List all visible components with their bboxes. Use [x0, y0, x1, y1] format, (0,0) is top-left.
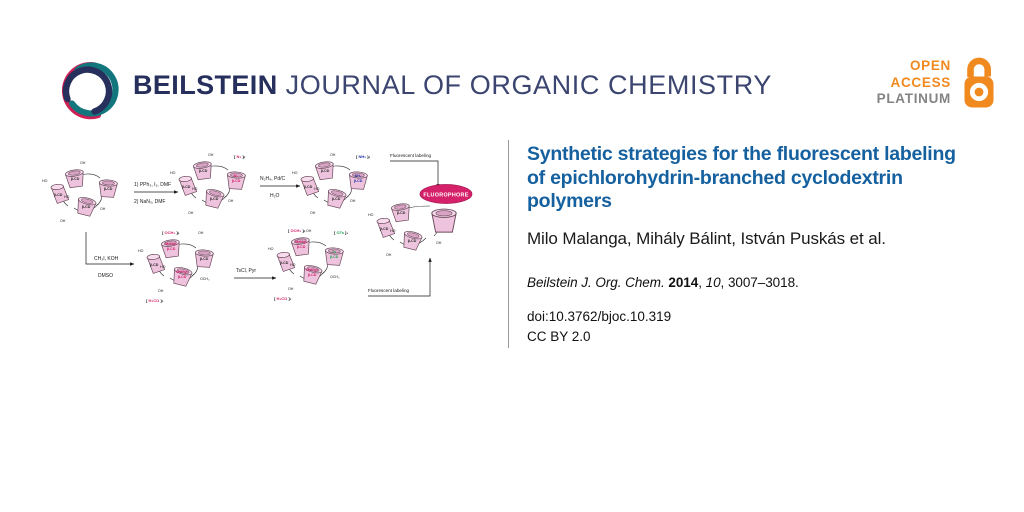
structure-cd-polymer-azide: β-CD β-CD β-CD β-CD N₃ OH HO HO OH OH [ … — [170, 153, 246, 215]
svg-text:Ts: Ts — [332, 250, 336, 254]
labeling-arrow-bottom: Fluorescent labeling — [368, 258, 430, 296]
svg-text:β-CD: β-CD — [308, 273, 317, 277]
wordmark-subtitle: JOURNAL OF ORGANIC CHEMISTRY — [286, 70, 772, 100]
reagent-step-3b: DMSO — [98, 273, 113, 279]
svg-text:HO: HO — [390, 229, 396, 233]
citation-pages: 3007–3018. — [728, 275, 799, 290]
svg-text:HO: HO — [292, 171, 298, 175]
svg-text:Methyl: Methyl — [165, 242, 176, 246]
svg-text:β-CD: β-CD — [321, 169, 330, 173]
svg-text:OH: OH — [60, 219, 66, 223]
reagent-arrow-step-2: N₂H₄, Pd/C H₂O — [260, 176, 300, 199]
labeling-arrow-bottom-text: Fluorescent labeling — [368, 288, 410, 293]
reagent-step-1b: 2) NaN₃, DMF — [134, 199, 165, 205]
svg-text:OH: OH — [288, 287, 294, 291]
svg-text:β-CD: β-CD — [332, 197, 341, 201]
fluorophore-tag: FLUOROPHORE — [420, 185, 472, 204]
svg-text:β-CD: β-CD — [297, 245, 306, 249]
svg-text:β-CD: β-CD — [199, 169, 208, 173]
svg-text:HO: HO — [138, 249, 144, 253]
citation-journal: Beilstein J. Org. Chem. — [527, 275, 665, 290]
svg-text:OH: OH — [228, 199, 234, 203]
reaction-scheme-figure: β-CD β-CD β-CD β-CD OH HO HO OH OH 1) PP… — [38, 136, 493, 326]
svg-text:Methyl: Methyl — [306, 268, 317, 272]
svg-text:β-CD: β-CD — [178, 275, 187, 279]
svg-text:FLUOROPHORE: FLUOROPHORE — [423, 193, 468, 199]
oa-line-access: ACCESS — [877, 75, 951, 91]
svg-text:β-CD: β-CD — [397, 211, 406, 215]
reagent-arrow-step-4: TsCl, Pyr — [234, 268, 276, 278]
reagent-step-3a: CH₃I, KOH — [94, 256, 119, 262]
labeling-arrow-top: Fluorescent labeling — [390, 153, 438, 188]
article-title: Synthetic strategies for the fluorescent… — [527, 143, 967, 214]
svg-text:Methyl: Methyl — [295, 240, 306, 244]
svg-text:β-CD: β-CD — [408, 239, 417, 243]
svg-text:β-CD: β-CD — [54, 193, 63, 197]
journal-wordmark: BEILSTEINJOURNAL OF ORGANIC CHEMISTRY — [133, 70, 772, 101]
methoxy-rev-bracket-label: [ H₃CO ]₂ — [146, 298, 164, 303]
svg-text:OH: OH — [306, 229, 312, 233]
svg-text:OCH₃: OCH₃ — [330, 275, 340, 279]
svg-text:HO: HO — [160, 265, 166, 269]
article-citation: Beilstein J. Org. Chem. 2014, 10, 3007–3… — [527, 275, 967, 290]
methoxy-bracket-label: [ OCH₃ ]ₙ — [162, 230, 180, 235]
open-access-badge: OPEN ACCESS PLATINUM — [877, 56, 1000, 110]
svg-text:β-CD: β-CD — [330, 255, 339, 259]
structure-cd-polymer-tosyl: β-CD Methyl β-CD β-CD Methyl β-CD Ts OH … — [268, 228, 348, 301]
svg-text:HO: HO — [314, 187, 320, 191]
azide-bracket-label: [ N₃ ]ₙ — [234, 154, 246, 159]
structure-cd-polymer-labeled: β-CD β-CD β-CD HO HO OH OH FLUOROPHORE — [368, 185, 472, 258]
svg-text:β-CD: β-CD — [104, 187, 113, 191]
svg-text:β-CD: β-CD — [280, 261, 289, 265]
svg-text:β-CD: β-CD — [150, 263, 159, 267]
structure-cd-polymer-amine: β-CD β-CD β-CD β-CD NH₂ OH HO HO OH OH [… — [292, 153, 370, 215]
svg-text:OH: OH — [80, 161, 86, 165]
open-access-text: OPEN ACCESS PLATINUM — [877, 58, 951, 107]
citation-volume: 10 — [706, 275, 721, 290]
article-authors: Milo Malanga, Mihály Bálint, István Pusk… — [527, 228, 967, 249]
svg-text:OH: OH — [188, 211, 194, 215]
citation-year: 2014 — [668, 275, 698, 290]
svg-text:HO: HO — [42, 179, 48, 183]
svg-text:OH: OH — [386, 253, 392, 257]
svg-text:β-CD: β-CD — [380, 227, 389, 231]
reagent-arrow-step-3: CH₃I, KOH DMSO — [86, 232, 134, 279]
reagent-step-2b: H₂O — [270, 193, 280, 199]
svg-text:OH: OH — [436, 241, 442, 245]
open-padlock-icon — [958, 56, 1000, 110]
beilstein-ring-logo-icon — [55, 58, 121, 124]
oa-line-open: OPEN — [877, 58, 951, 74]
svg-text:NH₂: NH₂ — [355, 174, 362, 178]
amine-bracket-label: [ NH₂ ]ₙ — [356, 154, 370, 159]
reagent-arrow-step-1: 1) PPh₃, I₂, DMF 2) NaN₃, DMF — [134, 182, 178, 205]
svg-text:HO: HO — [268, 247, 274, 251]
svg-text:HO: HO — [192, 187, 198, 191]
svg-text:OH: OH — [198, 231, 204, 235]
svg-text:β-CD: β-CD — [232, 179, 241, 183]
svg-text:OH: OH — [310, 211, 316, 215]
article-doi[interactable]: doi:10.3762/bjoc.10.319 — [527, 307, 967, 327]
svg-text:OH: OH — [350, 199, 356, 203]
tosyl-bracket-label: [ OTs ]₁ — [334, 230, 348, 235]
svg-text:β-CD: β-CD — [304, 185, 313, 189]
wordmark-beilstein: BEILSTEIN — [133, 70, 278, 100]
journal-masthead: BEILSTEINJOURNAL OF ORGANIC CHEMISTRY OP… — [0, 0, 1024, 140]
svg-text:Methyl: Methyl — [176, 270, 187, 274]
svg-text:β-CD: β-CD — [354, 179, 363, 183]
svg-text:β-CD: β-CD — [210, 197, 219, 201]
column-divider — [508, 140, 509, 348]
svg-text:β-CD: β-CD — [71, 177, 80, 181]
svg-text:OH: OH — [100, 207, 106, 211]
svg-text:β-CD: β-CD — [82, 205, 91, 209]
svg-text:β-CD: β-CD — [167, 247, 176, 251]
reagent-step-2a: N₂H₄, Pd/C — [260, 176, 285, 182]
svg-text:OH: OH — [330, 153, 336, 157]
svg-text:[ H₃CO ]₂: [ H₃CO ]₂ — [274, 296, 292, 301]
reagent-step-1a: 1) PPh₃, I₂, DMF — [134, 182, 171, 188]
svg-text:HO: HO — [290, 263, 296, 267]
structure-cd-polymer-start: β-CD β-CD β-CD β-CD OH HO HO OH OH — [42, 161, 118, 223]
svg-text:OH: OH — [158, 289, 164, 293]
svg-text:OH: OH — [208, 153, 214, 157]
svg-text:HO: HO — [170, 171, 176, 175]
svg-text:OCH₃: OCH₃ — [200, 277, 210, 281]
svg-text:HO: HO — [368, 213, 374, 217]
structure-cd-polymer-methyl: β-CD Methyl β-CD β-CD Methyl β-CD OH HO … — [138, 230, 214, 303]
svg-text:[ OCH₃ ]ₙ: [ OCH₃ ]ₙ — [288, 228, 306, 233]
article-license: CC BY 2.0 — [527, 327, 967, 347]
reagent-step-4a: TsCl, Pyr — [236, 268, 256, 274]
svg-text:N₃: N₃ — [234, 174, 239, 178]
svg-text:β-CD: β-CD — [182, 185, 191, 189]
svg-text:HO: HO — [64, 195, 70, 199]
oa-line-platinum: PLATINUM — [877, 91, 951, 107]
labeling-arrow-top-text: Fluorescent labeling — [390, 153, 432, 158]
svg-text:β-CD: β-CD — [200, 257, 209, 261]
article-metadata: Synthetic strategies for the fluorescent… — [527, 143, 967, 346]
